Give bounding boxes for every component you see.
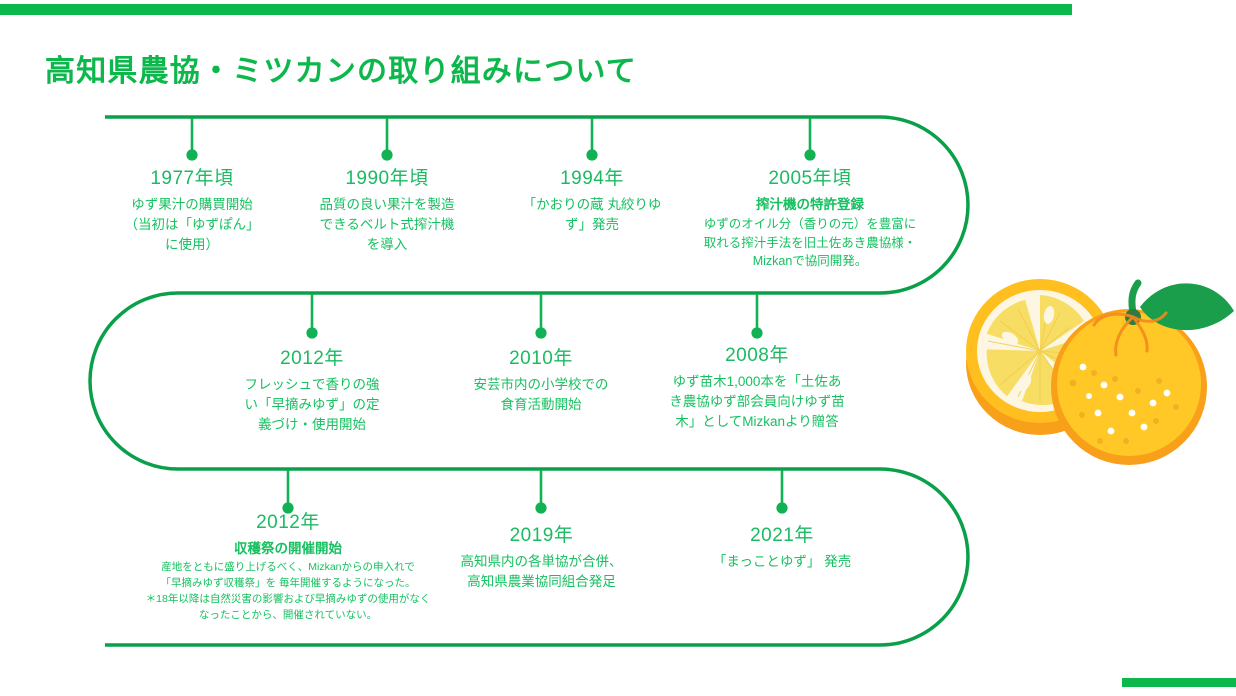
- timeline-connector: [288, 470, 782, 505]
- timeline-entry: 1990年頃 品質の良い果汁を製造 できるベルト式搾汁機 を導入: [287, 168, 487, 256]
- yuzu-fruit-illustration: [948, 255, 1236, 495]
- timeline-connector: [312, 294, 757, 330]
- entry-lead: 収穫祭の開催開始: [138, 539, 438, 559]
- page-title: 高知県農協・ミツカンの取り組みについて: [45, 46, 637, 90]
- entry-year: 2021年: [682, 525, 882, 547]
- entry-year: 2012年: [212, 348, 412, 370]
- entry-description: ゆず果汁の購買開始 （当初は「ゆずぽん」 に使用）: [92, 195, 292, 256]
- entry-year: 1990年頃: [287, 168, 487, 190]
- entry-description: ゆずのオイル分（香りの元）を豊富に 取れる搾汁手法を旧土佐あき農協様・ Mizk…: [675, 215, 945, 269]
- entry-lead: 搾汁機の特許登録: [675, 195, 945, 215]
- entry-year: 2010年: [441, 348, 641, 370]
- timeline-entry: 2012年 フレッシュで香りの強 い「早摘みゆず」の定 義づけ・使用開始: [212, 348, 412, 436]
- entry-year: 1977年頃: [92, 168, 292, 190]
- entry-year: 2019年: [434, 525, 649, 547]
- timeline-entry: 2012年 収穫祭の開催開始 産地をともに盛り上げるべく、Mizkanからの申入…: [138, 512, 438, 624]
- timeline-entry: 1994年 「かおりの蔵 丸絞りゆ ず」発売: [497, 168, 687, 235]
- bottom-accent-bar: [1122, 678, 1236, 687]
- slide-canvas: 高知県農協・ミツカンの取り組みについて: [0, 0, 1236, 696]
- entry-description: ゆず苗木1,000本を「土佐あ き農協ゆず部会員向けゆず苗 木」としてMizka…: [637, 372, 877, 433]
- top-accent-bar: [0, 4, 1072, 15]
- entry-description: 「かおりの蔵 丸絞りゆ ず」発売: [497, 195, 687, 236]
- entry-description: 安芸市内の小学校での 食育活動開始: [441, 375, 641, 416]
- entry-description: フレッシュで香りの強 い「早摘みゆず」の定 義づけ・使用開始: [212, 375, 412, 436]
- entry-year: 2005年頃: [675, 168, 945, 190]
- timeline-entry: 1977年頃 ゆず果汁の購買開始 （当初は「ゆずぽん」 に使用）: [92, 168, 292, 256]
- timeline-entry: 2021年 「まっことゆず」 発売: [682, 525, 882, 572]
- timeline-entry: 2010年 安芸市内の小学校での 食育活動開始: [441, 348, 641, 415]
- entry-year: 2012年: [138, 512, 438, 534]
- timeline-entry: 2005年頃 搾汁機の特許登録 ゆずのオイル分（香りの元）を豊富に 取れる搾汁手…: [675, 168, 945, 270]
- timeline-dot: [306, 327, 762, 338]
- entry-footnote: 産地をともに盛り上げるべく、Mizkanからの申入れで 「早摘みゆず収穫祭」を …: [138, 560, 438, 624]
- entry-description: 高知県内の各単協が合併、 高知県農業協同組合発足: [434, 552, 649, 593]
- timeline-entry: 2008年 ゆず苗木1,000本を「土佐あ き農協ゆず部会員向けゆず苗 木」とし…: [637, 345, 877, 433]
- entry-year: 1994年: [497, 168, 687, 190]
- timeline-dot: [186, 149, 815, 160]
- entry-description: 「まっことゆず」 発売: [682, 552, 882, 572]
- entry-description: 品質の良い果汁を製造 できるベルト式搾汁機 を導入: [287, 195, 487, 256]
- timeline-connector: [192, 118, 810, 152]
- entry-year: 2008年: [637, 345, 877, 367]
- timeline-entry: 2019年 高知県内の各単協が合併、 高知県農業協同組合発足: [434, 525, 649, 592]
